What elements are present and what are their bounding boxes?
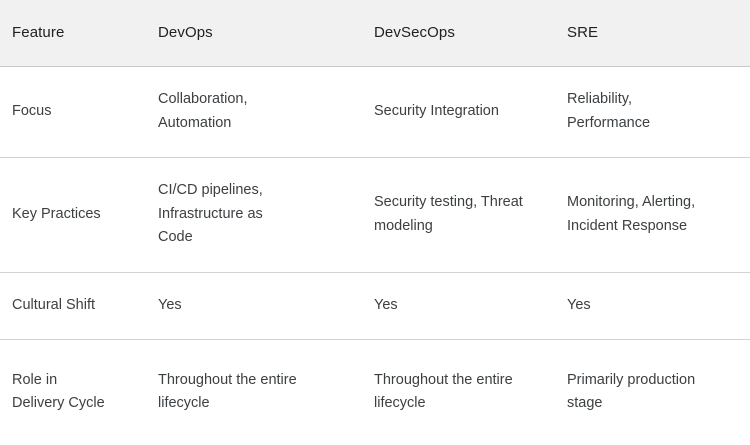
cell-focus-devsecops: Security Integration xyxy=(363,66,556,157)
column-header-devops: DevOps xyxy=(146,0,363,66)
cell-text: CI/CD pipelines, Infrastructure as Code xyxy=(158,179,290,249)
row-label-cultural-shift: Cultural Shift xyxy=(0,272,146,339)
cell-role-devops: Throughout the entire lifecycle xyxy=(146,339,363,445)
cell-focus-sre: Reliability, Performance xyxy=(556,66,750,157)
cell-role-devsecops: Throughout the entire lifecycle xyxy=(363,339,556,445)
cell-text: Yes xyxy=(158,297,182,313)
cell-text: Reliability, Performance xyxy=(567,88,699,135)
cell-text: Cultural Shift xyxy=(12,297,95,313)
cell-key-practices-sre: Monitoring, Alerting, Incident Response xyxy=(556,157,750,272)
cell-text: Yes xyxy=(374,297,398,313)
cell-key-practices-devops: CI/CD pipelines, Infrastructure as Code xyxy=(146,157,363,272)
row-label-role-in-delivery-cycle: Role in Delivery Cycle xyxy=(0,339,146,445)
cell-cultural-shift-sre: Yes xyxy=(556,272,750,339)
row-label-focus: Focus xyxy=(0,66,146,157)
table-header-row: Feature DevOps DevSecOps SRE xyxy=(0,0,750,66)
cell-text: Throughout the entire lifecycle xyxy=(158,369,344,416)
cell-key-practices-devsecops: Security testing, Threat modeling xyxy=(363,157,556,272)
comparison-table: Feature DevOps DevSecOps SRE Focus Colla… xyxy=(0,0,750,445)
row-label-key-practices: Key Practices xyxy=(0,157,146,272)
cell-text: Role in Delivery Cycle xyxy=(12,369,108,416)
cell-text: Yes xyxy=(567,297,591,313)
cell-text: Collaboration, Automation xyxy=(158,88,290,135)
cell-text: Focus xyxy=(12,100,108,123)
cell-role-sre: Primarily production stage xyxy=(556,339,750,445)
cell-text: Primarily production stage xyxy=(567,369,734,416)
cell-text: Monitoring, Alerting, Incident Response xyxy=(567,191,734,238)
table-row: Focus Collaboration, Automation Security… xyxy=(0,66,750,157)
table-row: Role in Delivery Cycle Throughout the en… xyxy=(0,339,750,445)
cell-text: Security testing, Threat modeling xyxy=(374,191,540,238)
cell-text: Security Integration xyxy=(374,100,506,123)
table-row: Cultural Shift Yes Yes Yes xyxy=(0,272,750,339)
column-header-sre: SRE xyxy=(556,0,750,66)
column-header-devsecops: DevSecOps xyxy=(363,0,556,66)
column-header-feature: Feature xyxy=(0,0,146,66)
table-body: Focus Collaboration, Automation Security… xyxy=(0,66,750,445)
table-row: Key Practices CI/CD pipelines, Infrastru… xyxy=(0,157,750,272)
table-header: Feature DevOps DevSecOps SRE xyxy=(0,0,750,66)
cell-text: Throughout the entire lifecycle xyxy=(374,369,540,416)
cell-cultural-shift-devsecops: Yes xyxy=(363,272,556,339)
cell-cultural-shift-devops: Yes xyxy=(146,272,363,339)
cell-focus-devops: Collaboration, Automation xyxy=(146,66,363,157)
cell-text: Key Practices xyxy=(12,203,108,226)
